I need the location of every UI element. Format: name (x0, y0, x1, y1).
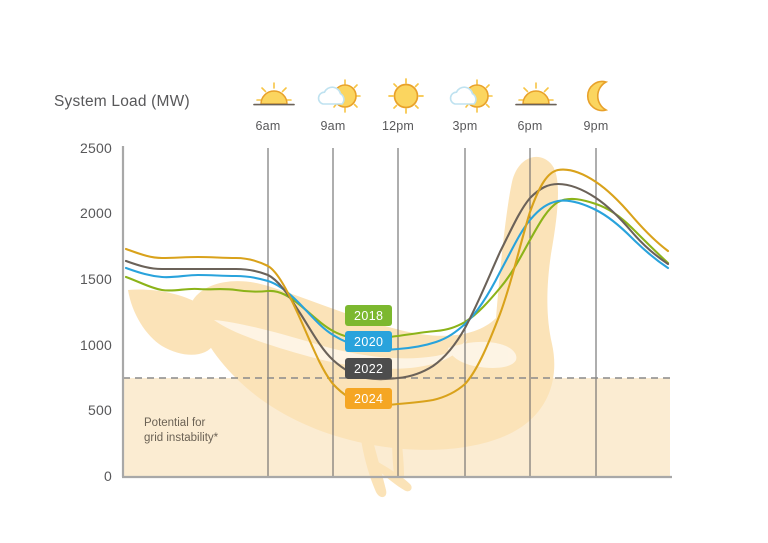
legend-badge-2022[interactable]: 2022 (345, 358, 392, 379)
instability-annotation-line2: grid instability* (144, 431, 218, 446)
instability-annotation-line1: Potential for (144, 416, 218, 431)
legend-badge-2024[interactable]: 2024 (345, 388, 392, 409)
plot-area (0, 0, 768, 543)
legend-badge-2018[interactable]: 2018 (345, 305, 392, 326)
instability-annotation: Potential for grid instability* (144, 416, 218, 446)
legend-badge-2020[interactable]: 2020 (345, 331, 392, 352)
chart-container: System Load (MW) (0, 0, 768, 543)
